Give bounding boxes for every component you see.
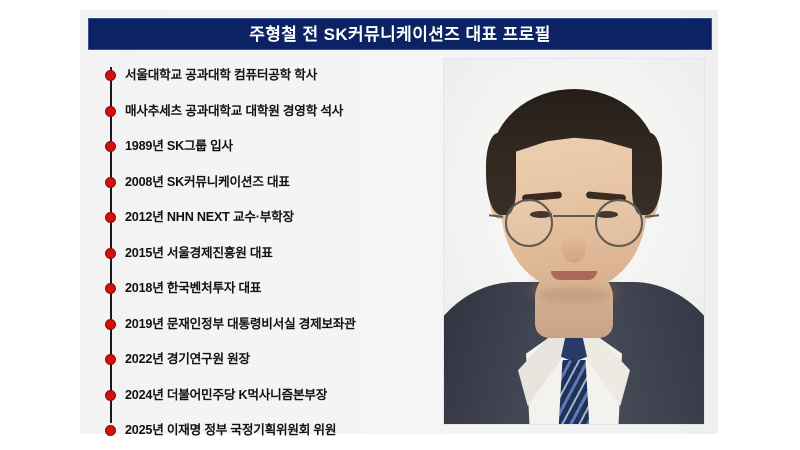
timeline-bullet-icon: [105, 177, 116, 188]
career-timeline: 서울대학교 공과대학 컴퓨터공학 학사 매사추세츠 공과대학교 대학원 경영학 …: [88, 58, 468, 428]
timeline-bullet-icon: [105, 354, 116, 365]
timeline-item: 매사추세츠 공과대학교 대학원 경영학 석사: [88, 94, 468, 130]
timeline-item-label: 2022년 경기연구원 원장: [125, 353, 250, 366]
timeline-item-label: 2015년 서울경제진흥원 대표: [125, 247, 273, 260]
timeline-item: 2019년 문재인정부 대통령비서실 경제보좌관: [88, 307, 468, 343]
timeline-bullet-icon: [105, 283, 116, 294]
profile-card: 주형철 전 SK커뮤니케이션즈 대표 프로필 서울대학교 공과대학 컴퓨터공학 …: [80, 10, 718, 434]
page-title: 주형철 전 SK커뮤니케이션즈 대표 프로필: [249, 26, 551, 43]
nose: [562, 235, 586, 263]
necktie-body: [557, 360, 591, 424]
portrait-photo-inner: [444, 59, 704, 424]
timeline-item: 2022년 경기연구원 원장: [88, 342, 468, 378]
portrait-photo: [443, 58, 705, 425]
timeline-item: 2018년 한국벤처투자 대표: [88, 271, 468, 307]
timeline-item-label: 2025년 이재명 정부 국정기획위원회 위원: [125, 424, 336, 437]
timeline-item: 2025년 이재명 정부 국정기획위원회 위원: [88, 413, 468, 449]
timeline-bullet-icon: [105, 106, 116, 117]
screenshot-canvas: 주형철 전 SK커뮤니케이션즈 대표 프로필 서울대학교 공과대학 컴퓨터공학 …: [0, 0, 800, 450]
timeline-bullet-icon: [105, 248, 116, 259]
timeline-item: 2012년 NHN NEXT 교수·부학장: [88, 200, 468, 236]
timeline-item-label: 서울대학교 공과대학 컴퓨터공학 학사: [125, 69, 317, 82]
timeline-item: 2015년 서울경제진흥원 대표: [88, 236, 468, 272]
lens-right: [595, 199, 643, 247]
timeline-bullet-icon: [105, 212, 116, 223]
timeline-bullet-icon: [105, 141, 116, 152]
timeline-item-label: 2018년 한국벤처투자 대표: [125, 282, 261, 295]
timeline-item-label: 2024년 더불어민주당 K먹사니즘본부장: [125, 389, 327, 402]
timeline-bullet-icon: [105, 319, 116, 330]
timeline-item: 2024년 더불어민주당 K먹사니즘본부장: [88, 378, 468, 414]
timeline-item-label: 2008년 SK커뮤니케이션즈 대표: [125, 176, 290, 189]
glasses-bridge: [553, 215, 595, 217]
timeline-item-label: 2012년 NHN NEXT 교수·부학장: [125, 211, 294, 224]
timeline-bullet-icon: [105, 390, 116, 401]
timeline-bullet-icon: [105, 425, 116, 436]
timeline-item-label: 1989년 SK그룹 입사: [125, 140, 233, 153]
timeline-item: 1989년 SK그룹 입사: [88, 129, 468, 165]
profile-title-bar: 주형철 전 SK커뮤니케이션즈 대표 프로필: [88, 18, 712, 50]
chin-shadow: [539, 287, 609, 303]
timeline-item-label: 매사추세츠 공과대학교 대학원 경영학 석사: [125, 105, 343, 118]
timeline-item-label: 2019년 문재인정부 대통령비서실 경제보좌관: [125, 318, 356, 331]
timeline-item: 2008년 SK커뮤니케이션즈 대표: [88, 165, 468, 201]
lens-left: [505, 199, 553, 247]
timeline-bullet-icon: [105, 70, 116, 81]
timeline-item: 서울대학교 공과대학 컴퓨터공학 학사: [88, 58, 468, 94]
mouth: [551, 271, 597, 280]
